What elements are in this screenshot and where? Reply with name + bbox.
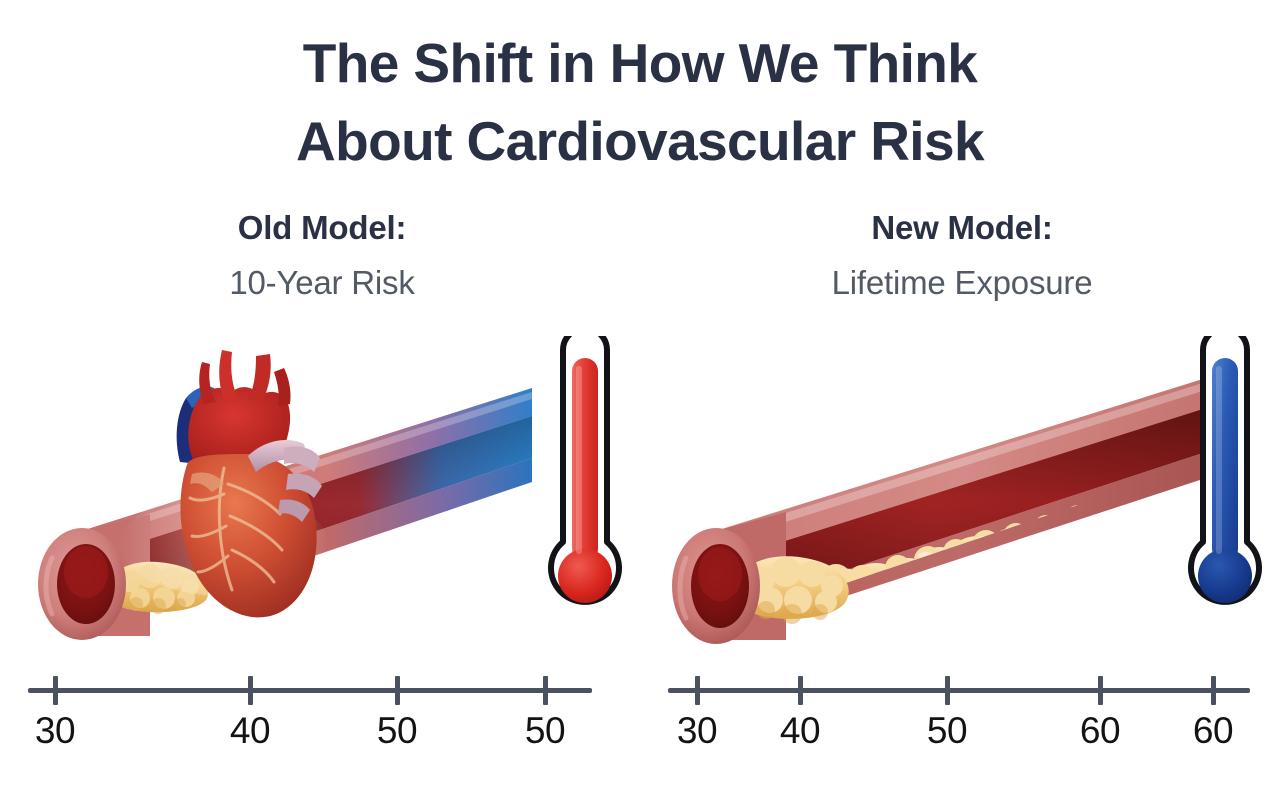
axis-tick [248,676,253,705]
panel-old-model: Old Model: 10-Year Risk [10,208,634,303]
infographic-root: { "title": { "line1": "The Shift in How … [0,0,1280,806]
heart-illustration [120,350,328,617]
axis-line-new-model [668,688,1250,693]
panel-old-model-heading: Old Model: [10,208,634,248]
page-title: The Shift in How We Think About Cardiova… [0,24,1280,180]
blue-thermometer-graphic [1170,336,1280,636]
axis-tick-label: 50 [927,710,967,752]
panel-old-model-subtitle: 10-Year Risk [10,262,634,303]
axis-tick-label: 60 [1080,710,1120,752]
panel-new-model-heading: New Model: [650,208,1274,248]
thermometer-stem-cold [1212,358,1238,562]
axis-tick [1211,676,1216,705]
axis-tick-label: 40 [780,710,820,752]
thermometer-old-model [530,336,640,666]
thermometer-bulb-hot [558,549,612,603]
panel-new-model-subtitle: Lifetime Exposure [650,262,1274,303]
axis-tick-label: 30 [677,710,717,752]
axis-line-old-model [28,688,592,693]
title-line-1: The Shift in How We Think [0,24,1280,102]
thermometer-stem-hot [572,358,598,562]
axis-tick [1098,676,1103,705]
axis-old-model: 30 40 50 50 [0,668,640,758]
thermometer-new-model [1170,336,1280,666]
axis-tick-label: 60 [1193,710,1233,752]
thermometer-bulb-cold [1198,549,1252,603]
panel-new-model: New Model: Lifetime Exposure [650,208,1274,303]
axis-tick-label: 50 [377,710,417,752]
axis-tick [798,676,803,705]
title-line-2: About Cardiovascular Risk [0,102,1280,180]
axis-tick [543,676,548,705]
axis-tick-label: 50 [525,710,565,752]
axis-tick-label: 40 [230,710,270,752]
axis-tick [395,676,400,705]
red-thermometer-graphic [530,336,640,636]
axis-tick-label: 30 [35,710,75,752]
axis-new-model: 30 40 50 60 60 [640,668,1280,758]
axis-tick [695,676,700,705]
axis-tick [945,676,950,705]
axis-tick [53,676,58,705]
